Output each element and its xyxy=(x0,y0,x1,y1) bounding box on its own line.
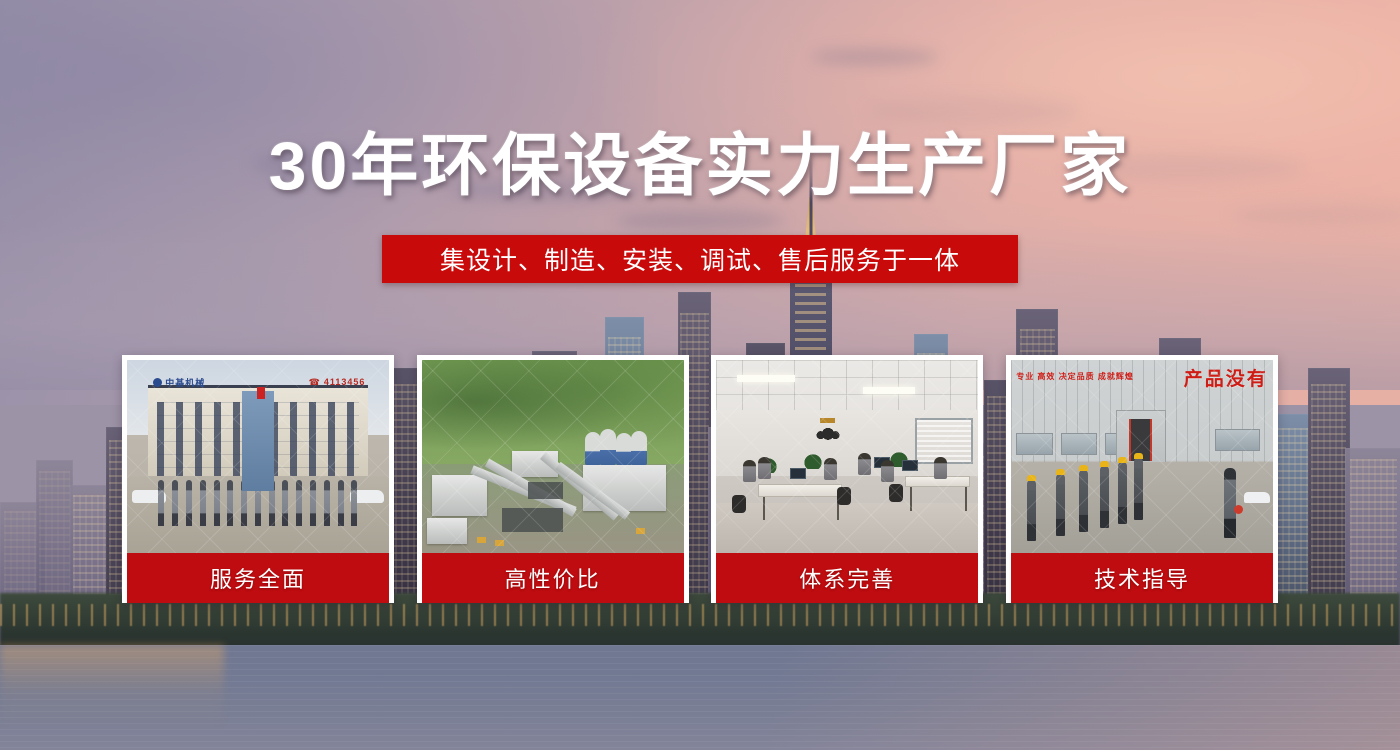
company-sign: 中基机械 xyxy=(153,375,274,389)
page-title: 30年环保设备实力生产厂家 xyxy=(0,132,1400,200)
wall-logo-icon xyxy=(811,418,845,440)
worker-training-photo: 产品没有 专业 高效 决定品质 成就辉煌 xyxy=(1011,360,1273,553)
computer-monitor xyxy=(790,468,806,479)
card-caption-text: 体系完善 xyxy=(799,562,895,594)
office-floor xyxy=(716,503,978,553)
plant-roof xyxy=(502,508,562,532)
excavator xyxy=(477,537,486,543)
card-caption-text: 高性价比 xyxy=(505,562,601,594)
potted-plant xyxy=(803,453,823,469)
feature-card[interactable]: 中基机械 ☎ 4113456 xyxy=(122,355,394,603)
cement-silo xyxy=(585,432,601,466)
worker xyxy=(1079,470,1088,532)
ceiling-light xyxy=(737,375,795,382)
factory-slogan-small: 专业 高效 决定品质 成就辉煌 xyxy=(1016,372,1134,382)
phone-sign: ☎ 4113456 xyxy=(309,375,366,389)
card-caption-text: 服务全面 xyxy=(210,562,306,594)
card-caption-bar: 技术指导 xyxy=(1011,553,1273,603)
staff-member xyxy=(310,480,316,526)
factory-window xyxy=(1215,429,1260,450)
office-worker xyxy=(881,460,894,482)
feature-card[interactable]: 产品没有 专业 高效 决定品质 成就辉煌 xyxy=(1006,355,1278,603)
worker xyxy=(1118,462,1127,524)
factory-window xyxy=(1061,433,1098,454)
staff-member xyxy=(338,480,344,526)
parked-car xyxy=(1244,492,1270,503)
company-headquarters-photo: 中基机械 ☎ 4113456 xyxy=(127,360,389,553)
plant-building xyxy=(427,518,467,544)
feature-card[interactable]: 体系完善 xyxy=(711,355,983,603)
industrial-plant xyxy=(427,429,679,549)
supervisor xyxy=(1224,468,1236,537)
office-chair xyxy=(889,484,903,502)
cement-silo xyxy=(600,429,616,465)
office-worker xyxy=(743,460,756,482)
cement-silo xyxy=(616,433,632,465)
plant-roof xyxy=(528,482,563,499)
worker xyxy=(1100,466,1109,528)
computer-monitor xyxy=(902,460,918,471)
staff-member xyxy=(351,480,357,526)
company-sign-text: 中基机械 xyxy=(165,376,205,389)
staff-member xyxy=(227,480,233,526)
staff-member xyxy=(200,480,206,526)
office-workspace-photo xyxy=(716,360,978,553)
office-worker xyxy=(934,457,947,479)
factory-slogan-large: 产品没有 xyxy=(1184,364,1268,391)
plant-building xyxy=(432,475,487,516)
card-caption-bar: 高性价比 xyxy=(422,553,684,603)
aerial-production-plant-photo xyxy=(422,360,684,553)
promotional-banner: 30年环保设备实力生产厂家 集设计、制造、安装、调试、售后服务于一体 中基机械 … xyxy=(0,0,1400,750)
card-caption-text: 技术指导 xyxy=(1094,562,1190,594)
excavator xyxy=(495,540,504,546)
office-ceiling xyxy=(716,360,978,410)
worker xyxy=(1134,458,1143,520)
office-worker xyxy=(858,453,871,475)
card-caption-bar: 体系完善 xyxy=(716,553,978,603)
excavator xyxy=(636,528,645,534)
staff-member xyxy=(296,480,302,526)
factory-window xyxy=(1016,433,1053,454)
staff-member xyxy=(214,480,220,526)
subtitle-text: 集设计、制造、安装、调试、售后服务于一体 xyxy=(440,241,960,277)
ceiling-light xyxy=(863,387,915,394)
flag-icon xyxy=(257,387,265,399)
staff-member xyxy=(282,480,288,526)
staff-member xyxy=(186,480,192,526)
staff-member xyxy=(324,480,330,526)
phone-icon: ☎ xyxy=(309,377,321,388)
subtitle-banner: 集设计、制造、安装、调试、售后服务于一体 xyxy=(382,235,1018,283)
worker xyxy=(1056,474,1065,536)
phone-number-text: 4113456 xyxy=(324,377,366,387)
building-glass-atrium xyxy=(242,391,273,491)
desk-leg xyxy=(763,497,765,520)
desk-leg xyxy=(910,487,912,510)
worker xyxy=(1027,480,1036,542)
desk-leg xyxy=(965,487,967,510)
card-caption-bar: 服务全面 xyxy=(127,553,389,603)
office-worker xyxy=(758,457,771,479)
office-worker xyxy=(824,458,837,480)
office-chair xyxy=(732,495,746,513)
company-logo-icon xyxy=(153,378,162,387)
office-chair xyxy=(837,487,851,505)
feature-card[interactable]: 高性价比 xyxy=(417,355,689,603)
office-desk xyxy=(758,484,842,498)
feature-card-list: 中基机械 ☎ 4113456 xyxy=(122,355,1278,603)
cement-silo xyxy=(631,431,647,466)
staff-member xyxy=(172,480,178,526)
staff-member xyxy=(158,480,164,526)
